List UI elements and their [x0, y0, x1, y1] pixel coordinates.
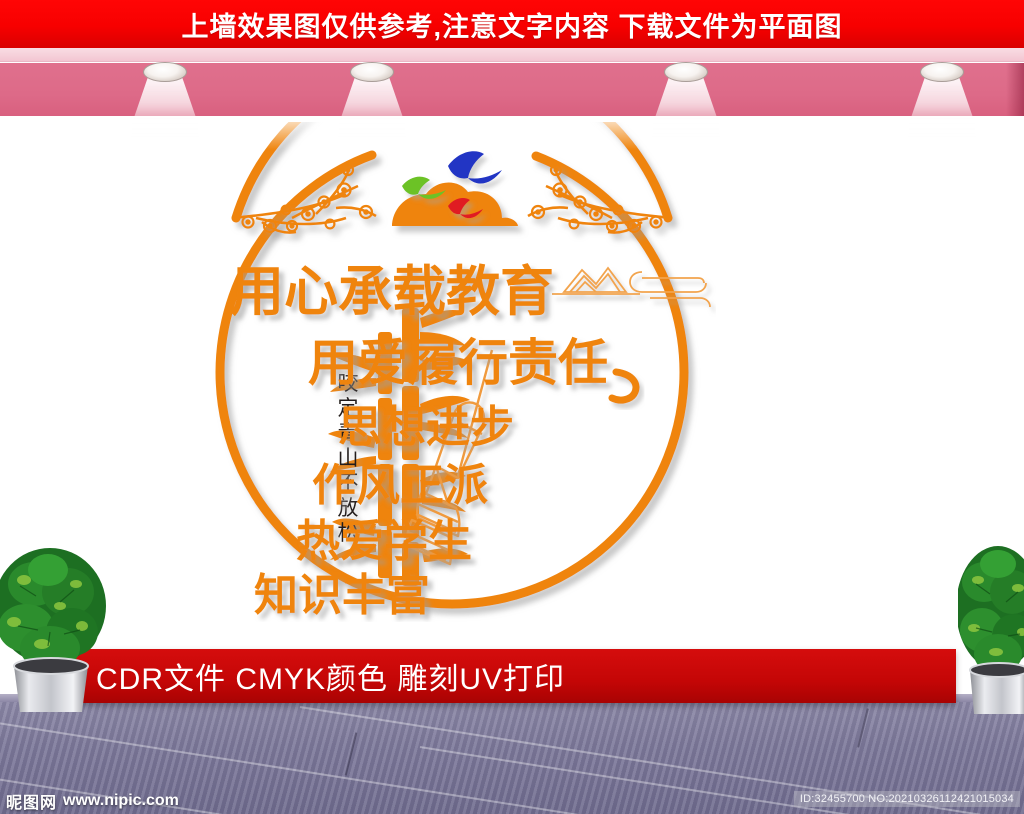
subline-2: 作风正派: [312, 461, 488, 510]
subline-3: 热爱学生: [296, 517, 472, 566]
spec-banner-text: CDR文件 CMYK颜色 雕刻UV打印: [68, 654, 565, 698]
flourish-stroke: [612, 372, 636, 400]
ceiling-downlight: [350, 62, 394, 84]
top-notice-text: 上墙效果图仅供参考,注意文字内容 下载文件为平面图: [181, 5, 842, 44]
wall-mockup-canvas: 上墙效果图仅供参考,注意文字内容 下载文件为平面图: [0, 0, 1024, 814]
light-bulb-icon: [664, 62, 708, 82]
ceiling-lip: [0, 48, 1024, 62]
headline-line-2: 用爱履行责任: [308, 335, 608, 391]
flowers-left: [243, 165, 373, 232]
plant-foliage: [0, 548, 106, 670]
asset-id-label: ID:32455700 NO:20210326112421015034: [794, 791, 1020, 807]
light-bulb-icon: [143, 62, 187, 82]
floor-seam: [857, 708, 869, 747]
headline-line-1: 用心承载教育: [230, 262, 554, 322]
mountain-line-motif: [552, 268, 710, 307]
plant-foliage: [958, 546, 1024, 674]
potted-plant-left: [0, 540, 118, 715]
ceiling-downlight: [664, 62, 708, 84]
spec-banner: CDR文件 CMYK颜色 雕刻UV打印: [68, 649, 956, 703]
ceiling-downlight: [920, 62, 964, 84]
floor-seam: [345, 732, 358, 775]
ceiling-downlight: [143, 62, 187, 84]
watermark-site-name: 昵图网: [6, 789, 57, 813]
bird-blue: [448, 151, 502, 183]
plant-pot: [970, 663, 1024, 714]
subline-1: 思想进步: [338, 403, 514, 452]
light-bulb-icon: [350, 62, 394, 82]
light-bulb-icon: [920, 62, 964, 82]
watermark: 昵图网 www.nipic.com: [6, 790, 179, 812]
wall-decal-artwork: 咬 定 青 山 不 放 松: [196, 122, 716, 622]
plant-pot: [14, 658, 88, 712]
ceiling-shadow: [1006, 63, 1024, 116]
flowers-right: [532, 165, 662, 232]
potted-plant-right: [958, 536, 1024, 716]
watermark-url: www.nipic.com: [63, 792, 179, 810]
top-notice-banner: 上墙效果图仅供参考,注意文字内容 下载文件为平面图: [0, 0, 1024, 48]
subline-4: 知识丰富: [254, 571, 430, 620]
